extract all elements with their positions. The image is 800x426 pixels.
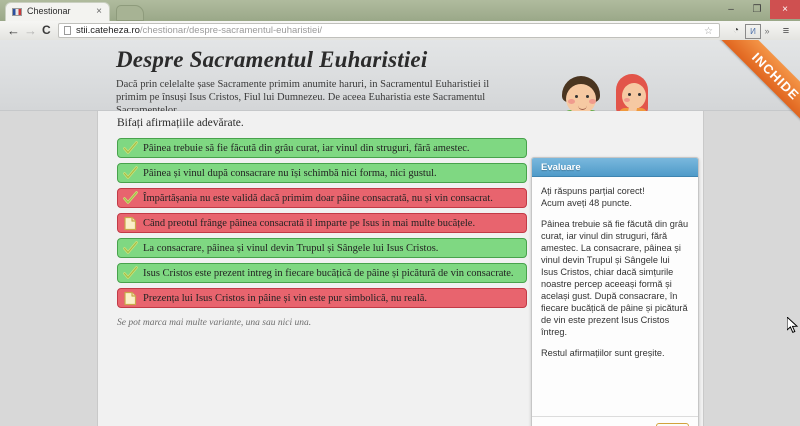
tab-favicon-icon <box>12 8 22 16</box>
answer-row[interactable]: Pâinea și vinul după consacrare nu își s… <box>117 163 527 183</box>
close-ribbon[interactable]: INCHIDE <box>716 40 800 124</box>
evaluation-footer: Ok <box>532 416 698 426</box>
evaluation-body: Ați răspuns parțial corect! Acum aveți 4… <box>532 177 698 359</box>
url-path: /chestionar/despre-sacramentul-euharisti… <box>140 25 322 36</box>
rss-icon[interactable]: ◔ <box>729 24 743 37</box>
window-controls: – ❐ × <box>718 0 800 21</box>
answer-label: Pâinea trebuie să fie făcută din grâu cu… <box>143 143 470 154</box>
answer-label: Prezența lui Isus Cristos in pâine și vi… <box>143 293 427 304</box>
boy-eye-left <box>575 95 578 98</box>
browser-tab-chestionar[interactable]: Chestionar × <box>5 2 110 21</box>
page-title: Despre Sacramentul Euharistiei <box>116 47 427 73</box>
url-host: stii.cateheza.ro <box>76 25 140 36</box>
answer-label: Când preotul frânge pâinea consacrată il… <box>143 218 475 229</box>
girl-eye-left <box>628 93 631 96</box>
browser-chrome: Chestionar × – ❐ × ← → C stii.cateheza.r… <box>0 0 800 40</box>
back-icon[interactable]: ← <box>7 24 20 37</box>
address-bar-url: stii.cateheza.ro/chestionar/despre-sacra… <box>76 25 322 36</box>
browser-toolbar: ← → C stii.cateheza.ro/chestionar/despre… <box>0 21 800 41</box>
reload-icon[interactable]: C <box>42 24 51 37</box>
quiz-block: Bifați afirmațiile adevărate. Pâinea tre… <box>117 117 527 328</box>
page-info-icon <box>64 26 71 35</box>
close-window-button[interactable]: × <box>770 0 800 19</box>
answer-label: La consacrare, pâinea și vinul devin Tru… <box>143 243 438 254</box>
answer-row[interactable]: La consacrare, pâinea și vinul devin Tru… <box>117 238 527 258</box>
blank-note-icon[interactable] <box>123 216 138 231</box>
page-header: Despre Sacramentul Euharistiei Dacă prin… <box>0 40 800 111</box>
mouse-cursor <box>787 317 799 335</box>
boy-eye-right <box>586 95 589 98</box>
answer-row[interactable]: Când preotul frânge pâinea consacrată il… <box>117 213 527 233</box>
check-icon[interactable] <box>123 191 138 206</box>
check-icon[interactable] <box>123 241 138 256</box>
browser-tabstrip: Chestionar × – ❐ × <box>0 0 800 22</box>
answer-row[interactable]: Pâinea trebuie să fie făcută din grâu cu… <box>117 138 527 158</box>
evaluation-paragraph: Restul afirmațiilor sunt greșite. <box>541 347 689 359</box>
quiz-prompt: Bifați afirmațiile adevărate. <box>117 117 527 129</box>
answer-label: Isus Cristos este prezent intreg in fiec… <box>143 268 514 279</box>
evaluation-dialog: Evaluare Ați răspuns parțial corect! Acu… <box>531 157 699 426</box>
tab-title: Chestionar <box>27 6 91 16</box>
page-viewport: Despre Sacramentul Euharistiei Dacă prin… <box>0 40 800 426</box>
evaluation-paragraph: Ați răspuns parțial corect! Acum aveți 4… <box>541 185 689 209</box>
answer-label: Împărtășania nu este validă dacă primim … <box>143 193 493 204</box>
chrome-menu-icon[interactable]: ≡ <box>779 24 793 37</box>
girl-eye-right <box>638 93 641 96</box>
evaluation-title: Evaluare <box>541 162 581 173</box>
evernote-icon[interactable]: И <box>745 24 761 39</box>
boy-cheek-left <box>568 99 575 104</box>
answer-row[interactable]: Prezența lui Isus Cristos in pâine și vi… <box>117 288 527 308</box>
bookmark-star-icon[interactable]: ☆ <box>704 26 713 37</box>
blank-note-icon[interactable] <box>123 291 138 306</box>
tab-close-icon[interactable]: × <box>96 6 102 18</box>
overflow-dot-icon[interactable]: » <box>760 24 774 37</box>
forward-icon[interactable]: → <box>24 24 37 37</box>
answer-list: Pâinea trebuie să fie făcută din grâu cu… <box>117 138 527 308</box>
boy-cheek-right <box>589 99 596 104</box>
answer-label: Pâinea și vinul după consacrare nu își s… <box>143 168 437 179</box>
answer-row[interactable]: Împărtășania nu este validă dacă primim … <box>117 188 527 208</box>
check-icon[interactable] <box>123 166 138 181</box>
maximize-button[interactable]: ❐ <box>744 0 770 19</box>
close-ribbon-label[interactable]: INCHIDE <box>720 40 800 124</box>
evaluation-paragraph: Pâinea trebuie să fie făcută din grâu cu… <box>541 218 689 338</box>
girl-cheek <box>624 98 630 102</box>
minimize-button[interactable]: – <box>718 0 744 19</box>
check-icon[interactable] <box>123 141 138 156</box>
answer-row[interactable]: Isus Cristos este prezent intreg in fiec… <box>117 263 527 283</box>
check-icon[interactable] <box>123 266 138 281</box>
quiz-note: Se pot marca mai multe variante, una sau… <box>117 318 527 328</box>
new-tab-button[interactable] <box>116 5 144 21</box>
evaluation-header: Evaluare <box>532 158 698 177</box>
address-bar[interactable]: stii.cateheza.ro/chestionar/despre-sacra… <box>58 23 720 38</box>
